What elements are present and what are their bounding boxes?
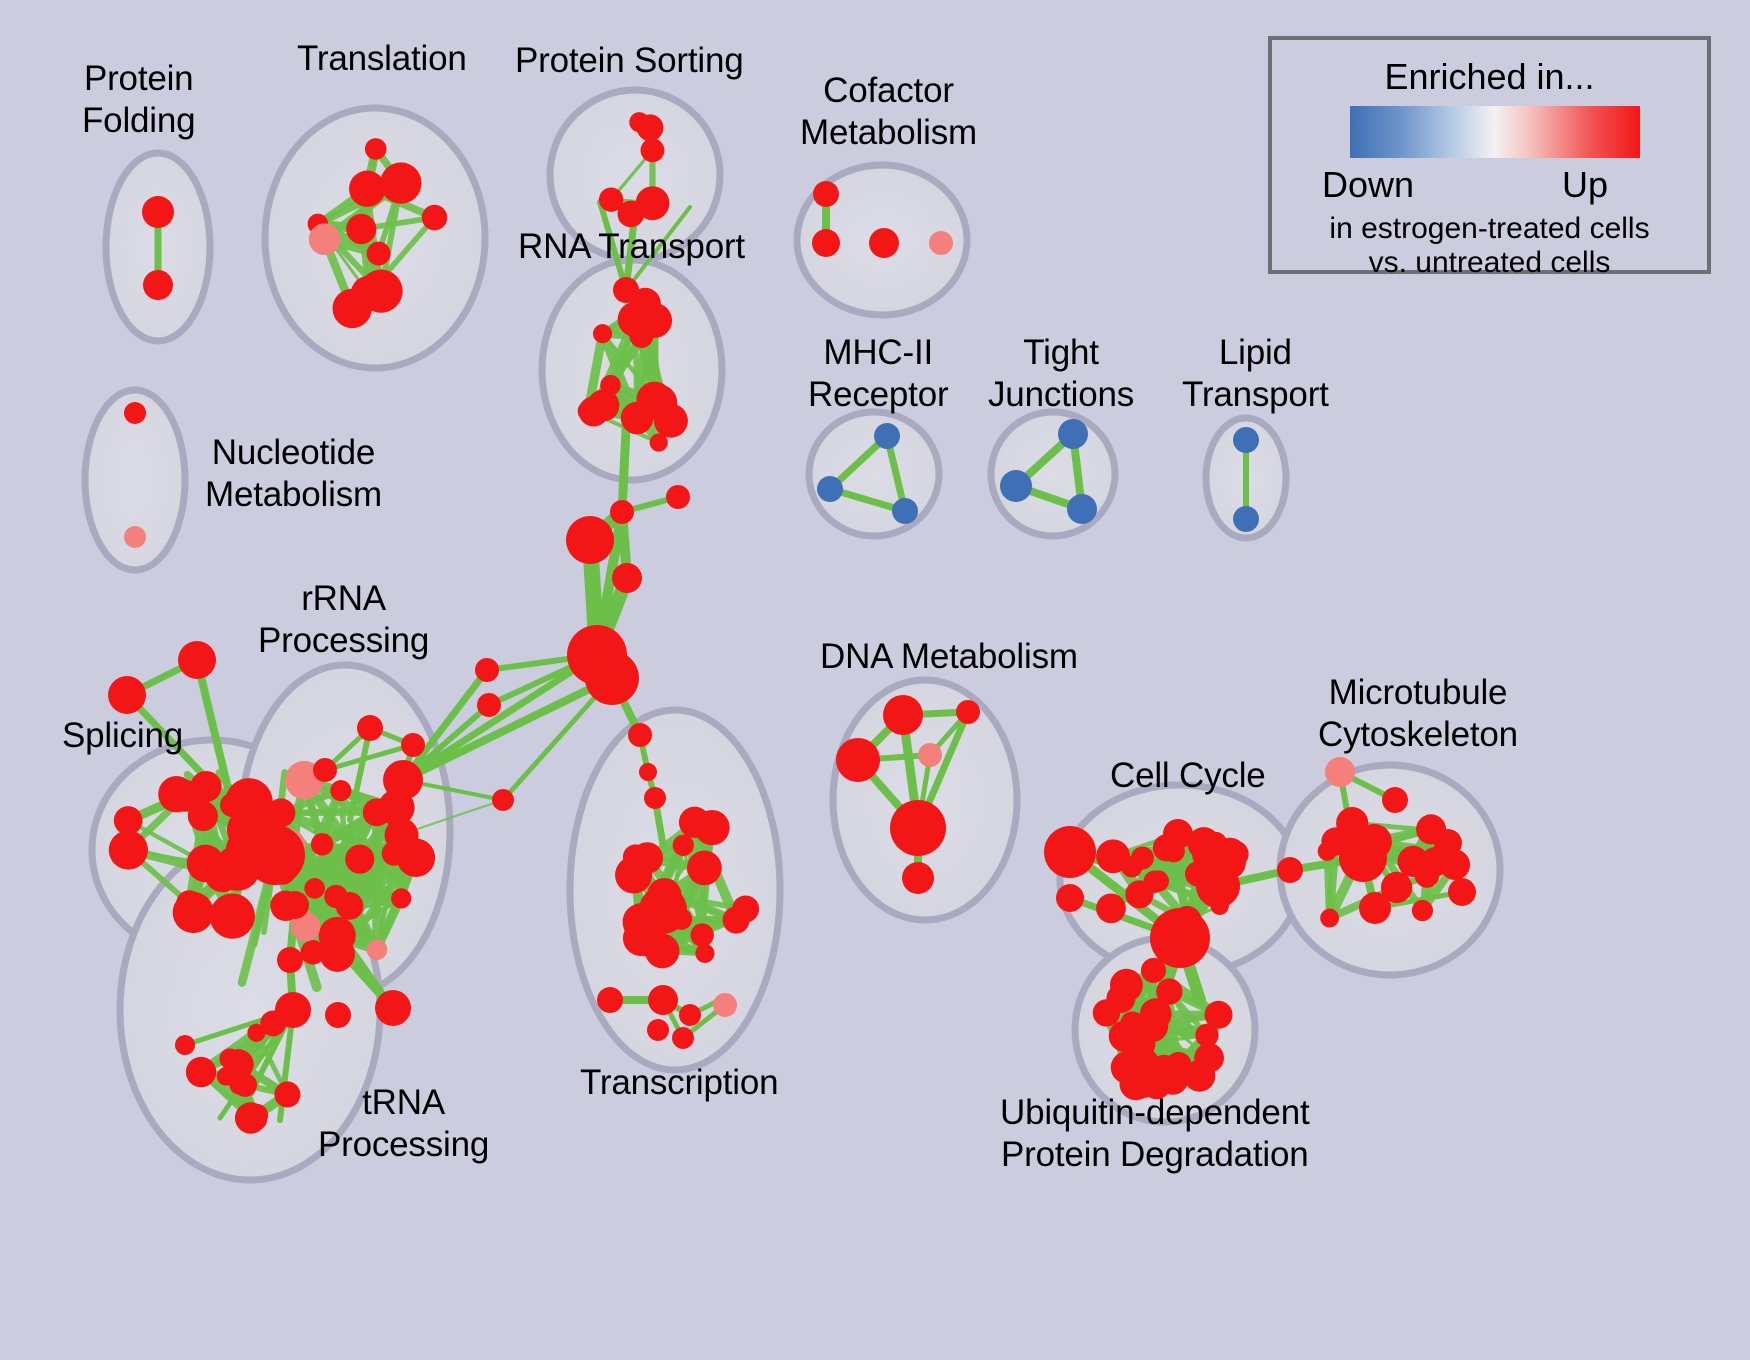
network-node <box>1106 846 1127 867</box>
network-node <box>639 763 657 781</box>
network-node <box>1204 1001 1232 1029</box>
legend-caption-line1: in estrogen-treated cells <box>1272 212 1707 246</box>
network-node <box>1233 506 1259 532</box>
network-node <box>345 845 374 874</box>
legend-down-label: Down <box>1322 164 1414 206</box>
cluster-label-dna-metabolism: DNA Metabolism <box>820 636 1078 678</box>
network-node <box>813 181 839 207</box>
network-node <box>1141 958 1166 983</box>
network-node <box>304 878 325 899</box>
network-node <box>636 382 672 418</box>
network-node <box>636 186 670 220</box>
network-node <box>375 990 411 1026</box>
network-node <box>346 214 376 244</box>
cluster-label-ubiquitin-protein-degradation: Ubiquitin-dependent Protein Degradation <box>1000 1092 1310 1176</box>
network-node <box>1067 494 1097 524</box>
network-node <box>385 818 419 852</box>
network-node <box>687 851 722 886</box>
legend-up-label: Up <box>1562 164 1608 206</box>
network-node <box>1325 757 1355 787</box>
network-node <box>1397 846 1428 877</box>
network-node <box>836 738 880 782</box>
network-node <box>628 723 652 747</box>
network-node <box>1130 1048 1159 1077</box>
network-node <box>175 1035 195 1055</box>
cluster-label-rrna-processing: rRNA Processing <box>258 578 429 662</box>
cluster-label-mhc-ii-receptor: MHC-II Receptor <box>808 332 948 416</box>
network-node <box>1434 829 1462 857</box>
network-node <box>1382 787 1408 813</box>
network-node <box>186 1057 216 1087</box>
network-node <box>732 895 759 922</box>
network-node <box>902 862 934 894</box>
network-node <box>1359 892 1391 924</box>
network-node <box>679 1004 701 1026</box>
legend-panel: Enriched in... Down Up in estrogen-treat… <box>1268 36 1711 274</box>
cluster-label-protein-sorting: Protein Sorting <box>515 40 744 82</box>
network-node <box>401 733 425 757</box>
network-node <box>623 844 648 869</box>
network-node <box>173 892 214 933</box>
network-node <box>223 1049 254 1080</box>
network-edge <box>622 430 626 512</box>
legend-colorbar <box>1350 106 1640 158</box>
network-node <box>599 187 623 211</box>
network-node <box>647 1019 669 1041</box>
network-node <box>365 138 387 160</box>
cluster-label-cell-cycle: Cell Cycle <box>1110 755 1266 797</box>
network-node <box>666 485 690 509</box>
network-node <box>313 758 337 782</box>
network-node <box>1448 878 1476 906</box>
network-node <box>275 992 311 1028</box>
network-node <box>1233 427 1259 453</box>
network-node <box>380 162 421 203</box>
network-node <box>168 780 200 812</box>
cluster-label-tight-junctions: Tight Junctions <box>988 332 1134 416</box>
network-node <box>639 886 687 934</box>
network-figure: Protein FoldingTranslationNucleotide Met… <box>0 0 1750 1360</box>
network-node <box>1277 857 1303 883</box>
network-node <box>673 835 694 856</box>
network-node <box>585 651 639 705</box>
network-node <box>695 944 714 963</box>
network-node <box>918 743 942 767</box>
network-edge <box>403 655 597 780</box>
cluster-label-cofactor-metabolism: Cofactor Metabolism <box>800 70 977 154</box>
network-node <box>246 1109 267 1130</box>
network-node <box>1143 870 1165 892</box>
network-node <box>929 231 953 255</box>
network-node <box>637 316 656 335</box>
network-node <box>274 1081 300 1107</box>
network-node <box>143 270 173 300</box>
network-node <box>1044 826 1096 878</box>
network-node <box>610 500 634 524</box>
network-node <box>672 1027 694 1049</box>
network-node <box>336 892 364 920</box>
network-node <box>956 700 980 724</box>
cluster-label-protein-folding: Protein Folding <box>82 58 195 142</box>
network-node <box>367 242 391 266</box>
network-node <box>266 798 295 827</box>
network-node <box>109 830 148 869</box>
network-node <box>1412 900 1433 921</box>
network-node <box>1320 909 1339 928</box>
network-node <box>367 939 388 960</box>
network-node <box>311 833 333 855</box>
network-node <box>817 476 843 502</box>
network-node <box>593 324 612 343</box>
network-node <box>641 138 665 162</box>
network-node <box>812 229 840 257</box>
cluster-label-nucleotide-metabolism: Nucleotide Metabolism <box>205 432 382 516</box>
network-node <box>637 114 664 141</box>
network-node <box>142 196 174 228</box>
network-node <box>1058 419 1088 449</box>
cluster-ellipse-mhc-ii-receptor <box>809 412 939 536</box>
network-node <box>391 888 411 908</box>
network-node <box>566 516 614 564</box>
network-node <box>108 676 146 714</box>
network-node <box>1163 819 1193 849</box>
legend-caption-line2: vs. untreated cells <box>1272 246 1707 280</box>
network-node <box>690 923 713 946</box>
network-node <box>1150 908 1210 968</box>
network-node <box>597 987 623 1013</box>
network-node <box>679 807 710 838</box>
network-node <box>648 985 678 1015</box>
network-node <box>1318 842 1337 861</box>
network-node <box>1222 841 1249 868</box>
network-node <box>1196 864 1240 908</box>
network-node <box>883 695 923 735</box>
legend-title: Enriched in... <box>1272 56 1707 98</box>
network-node <box>475 658 499 682</box>
network-node <box>613 277 639 303</box>
network-node <box>124 526 146 548</box>
network-node <box>281 891 309 919</box>
network-node <box>349 171 385 207</box>
cluster-label-microtubule-cytoskeleton: Microtubule Cytoskeleton <box>1318 672 1518 756</box>
network-node <box>600 375 621 396</box>
network-node <box>245 825 305 885</box>
network-node <box>422 205 448 231</box>
network-node <box>1339 834 1387 882</box>
network-node <box>1106 984 1135 1013</box>
network-node <box>330 780 351 801</box>
network-node <box>351 276 387 312</box>
network-node <box>357 715 383 741</box>
network-node <box>713 993 737 1017</box>
network-node <box>220 793 244 817</box>
cluster-label-rna-transport: RNA Transport <box>518 226 745 268</box>
network-node <box>1131 847 1154 870</box>
network-node <box>644 787 666 809</box>
network-node <box>890 800 946 856</box>
network-node <box>1194 1043 1224 1073</box>
network-node <box>325 1002 351 1028</box>
network-node <box>492 789 514 811</box>
network-node <box>477 693 501 717</box>
network-node <box>187 845 225 883</box>
cluster-label-translation: Translation <box>297 38 467 80</box>
network-node <box>874 423 900 449</box>
network-node <box>309 223 341 255</box>
network-node <box>124 402 146 424</box>
network-node <box>1056 884 1084 912</box>
network-node <box>277 947 303 973</box>
cluster-label-lipid-transport: Lipid Transport <box>1182 332 1329 416</box>
network-node <box>320 936 355 971</box>
network-node <box>178 641 216 679</box>
cluster-label-splicing: Splicing <box>62 715 183 757</box>
network-node <box>1096 893 1126 923</box>
network-node <box>892 498 918 524</box>
network-node <box>612 563 642 593</box>
network-node <box>869 228 899 258</box>
network-node <box>1000 470 1032 502</box>
network-node <box>383 760 423 800</box>
cluster-label-trna-processing: tRNA Processing <box>318 1082 489 1166</box>
network-node <box>210 893 255 938</box>
cluster-label-transcription: Transcription <box>580 1062 778 1104</box>
network-node <box>1140 998 1172 1030</box>
